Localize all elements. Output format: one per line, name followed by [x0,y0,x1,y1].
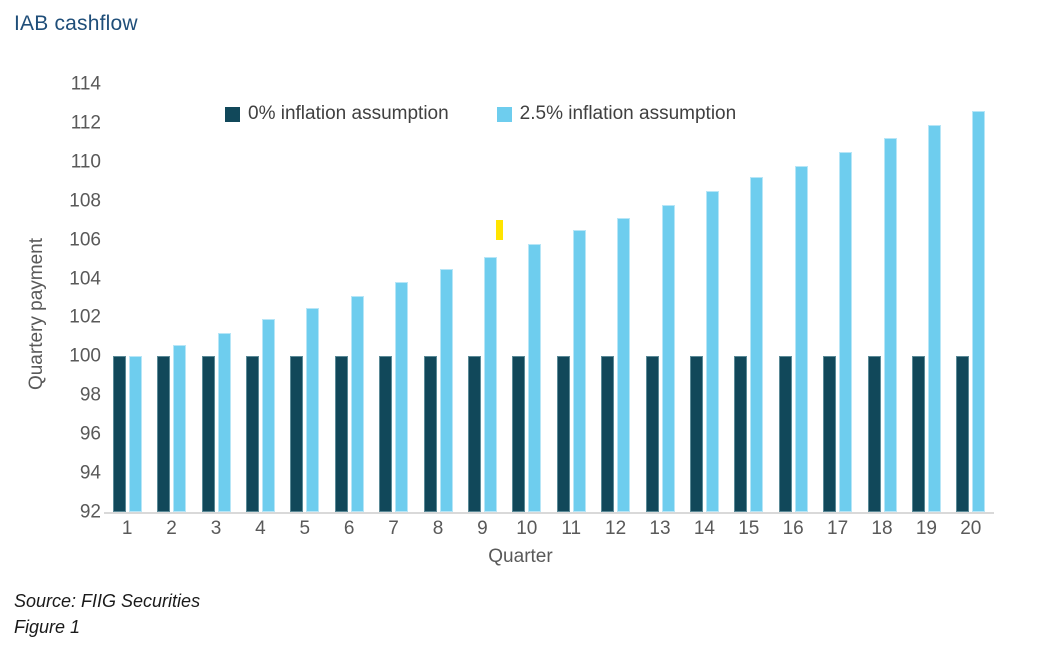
bar-inflation-25-q17[interactable] [839,152,852,512]
bar-inflation-25-q14[interactable] [706,191,719,512]
bar-group [113,84,142,512]
page-title: IAB cashflow [14,12,138,36]
x-tick-label: 16 [783,518,804,541]
bar-zero-inflation-q12[interactable] [601,356,614,512]
bar-inflation-25-q19[interactable] [928,125,941,512]
x-tick-label: 7 [388,518,399,541]
x-axis-tick-labels: 1234567891011121314151617181920 [105,518,993,548]
bar-group [956,84,985,512]
y-tick-label: 92 [80,503,101,522]
x-axis-baseline [104,512,994,514]
bar-inflation-25-q1[interactable] [129,356,142,512]
bar-group [601,84,630,512]
bar-zero-inflation-q15[interactable] [734,356,747,512]
x-tick-label: 17 [827,518,848,541]
x-tick-label: 3 [211,518,222,541]
bar-group [468,84,497,512]
bar-zero-inflation-q16[interactable] [779,356,792,512]
bar-group [379,84,408,512]
bar-group [246,84,275,512]
bar-zero-inflation-q9[interactable] [468,356,481,512]
bar-group [690,84,719,512]
y-tick-label: 100 [69,347,101,366]
bar-inflation-25-q5[interactable] [306,308,319,512]
bar-group [912,84,941,512]
legend-item-series-2[interactable]: 2.5% inflation assumption [497,103,737,125]
bar-group [646,84,675,512]
x-tick-label: 1 [122,518,133,541]
x-axis-title: Quarter [0,546,1041,568]
y-tick-label: 114 [71,75,101,94]
y-tick-label: 104 [69,269,101,288]
source-note: Source: FIIG Securities [14,588,200,614]
x-tick-label: 5 [300,518,311,541]
x-tick-label: 13 [649,518,670,541]
y-axis-title: Quartery payment [26,204,48,424]
bar-zero-inflation-q10[interactable] [512,356,525,512]
bar-zero-inflation-q14[interactable] [690,356,703,512]
x-tick-label: 11 [561,518,581,541]
bar-zero-inflation-q20[interactable] [956,356,969,512]
bar-inflation-25-q13[interactable] [662,205,675,512]
x-tick-label: 6 [344,518,355,541]
legend-label-0pct: 0% inflation assumption [248,103,449,125]
chart-legend: 0% inflation assumption 2.5% inflation a… [225,103,736,125]
x-tick-label: 4 [255,518,266,541]
bar-group [157,84,186,512]
bar-inflation-25-q6[interactable] [351,296,364,512]
x-tick-label: 14 [694,518,715,541]
bar-zero-inflation-q3[interactable] [202,356,215,512]
bar-inflation-25-q7[interactable] [395,282,408,512]
x-tick-label: 8 [433,518,444,541]
y-tick-label: 106 [69,230,101,249]
bar-inflation-25-q20[interactable] [972,111,985,512]
bar-zero-inflation-q2[interactable] [157,356,170,512]
bar-inflation-25-q4[interactable] [262,319,275,512]
bar-inflation-25-q3[interactable] [218,333,231,512]
legend-label-25pct: 2.5% inflation assumption [520,103,737,125]
y-tick-label: 112 [71,113,101,132]
bar-zero-inflation-q8[interactable] [424,356,437,512]
figure-footer: Source: FIIG Securities Figure 1 [14,588,200,640]
x-tick-label: 19 [916,518,937,541]
y-tick-label: 108 [69,191,101,210]
bar-zero-inflation-q5[interactable] [290,356,303,512]
bar-inflation-25-q9[interactable] [484,257,497,512]
yellow-highlight-marker [496,220,503,240]
bar-zero-inflation-q4[interactable] [246,356,259,512]
x-tick-label: 10 [516,518,537,541]
bar-group [779,84,808,512]
y-tick-label: 102 [69,308,101,327]
figure-number: Figure 1 [14,614,200,640]
bar-zero-inflation-q18[interactable] [868,356,881,512]
bar-inflation-25-q11[interactable] [573,230,586,512]
chart-figure: Quartery payment 11411211010810610410210… [0,48,1041,568]
legend-swatch-25pct [497,107,512,122]
bar-zero-inflation-q13[interactable] [646,356,659,512]
bar-inflation-25-q16[interactable] [795,166,808,512]
bar-group [335,84,364,512]
bar-inflation-25-q18[interactable] [884,138,897,512]
x-tick-label: 2 [166,518,177,541]
bar-group [512,84,541,512]
bar-group [202,84,231,512]
bar-zero-inflation-q1[interactable] [113,356,126,512]
bar-group [734,84,763,512]
bar-inflation-25-q2[interactable] [173,345,186,512]
x-tick-label: 20 [960,518,981,541]
x-tick-label: 9 [477,518,488,541]
bar-inflation-25-q15[interactable] [750,177,763,512]
bar-zero-inflation-q11[interactable] [557,356,570,512]
legend-swatch-0pct [225,107,240,122]
bar-zero-inflation-q17[interactable] [823,356,836,512]
bar-inflation-25-q12[interactable] [617,218,630,512]
bar-zero-inflation-q6[interactable] [335,356,348,512]
bar-inflation-25-q10[interactable] [528,244,541,512]
bar-group [557,84,586,512]
bar-group [290,84,319,512]
y-axis-tick-labels: 11411211010810610410210098969492 [55,84,101,512]
x-tick-label: 15 [738,518,759,541]
y-tick-label: 96 [80,425,101,444]
y-tick-label: 98 [80,386,101,405]
y-tick-label: 110 [71,152,101,171]
plot-area [105,84,993,512]
bar-zero-inflation-q7[interactable] [379,356,392,512]
bar-zero-inflation-q19[interactable] [912,356,925,512]
x-tick-label: 18 [871,518,892,541]
y-tick-label: 94 [80,464,101,483]
x-tick-label: 12 [605,518,626,541]
bar-group [823,84,852,512]
bar-inflation-25-q8[interactable] [440,269,453,512]
bar-group [424,84,453,512]
legend-item-series-1[interactable]: 0% inflation assumption [225,103,449,125]
bar-group [868,84,897,512]
